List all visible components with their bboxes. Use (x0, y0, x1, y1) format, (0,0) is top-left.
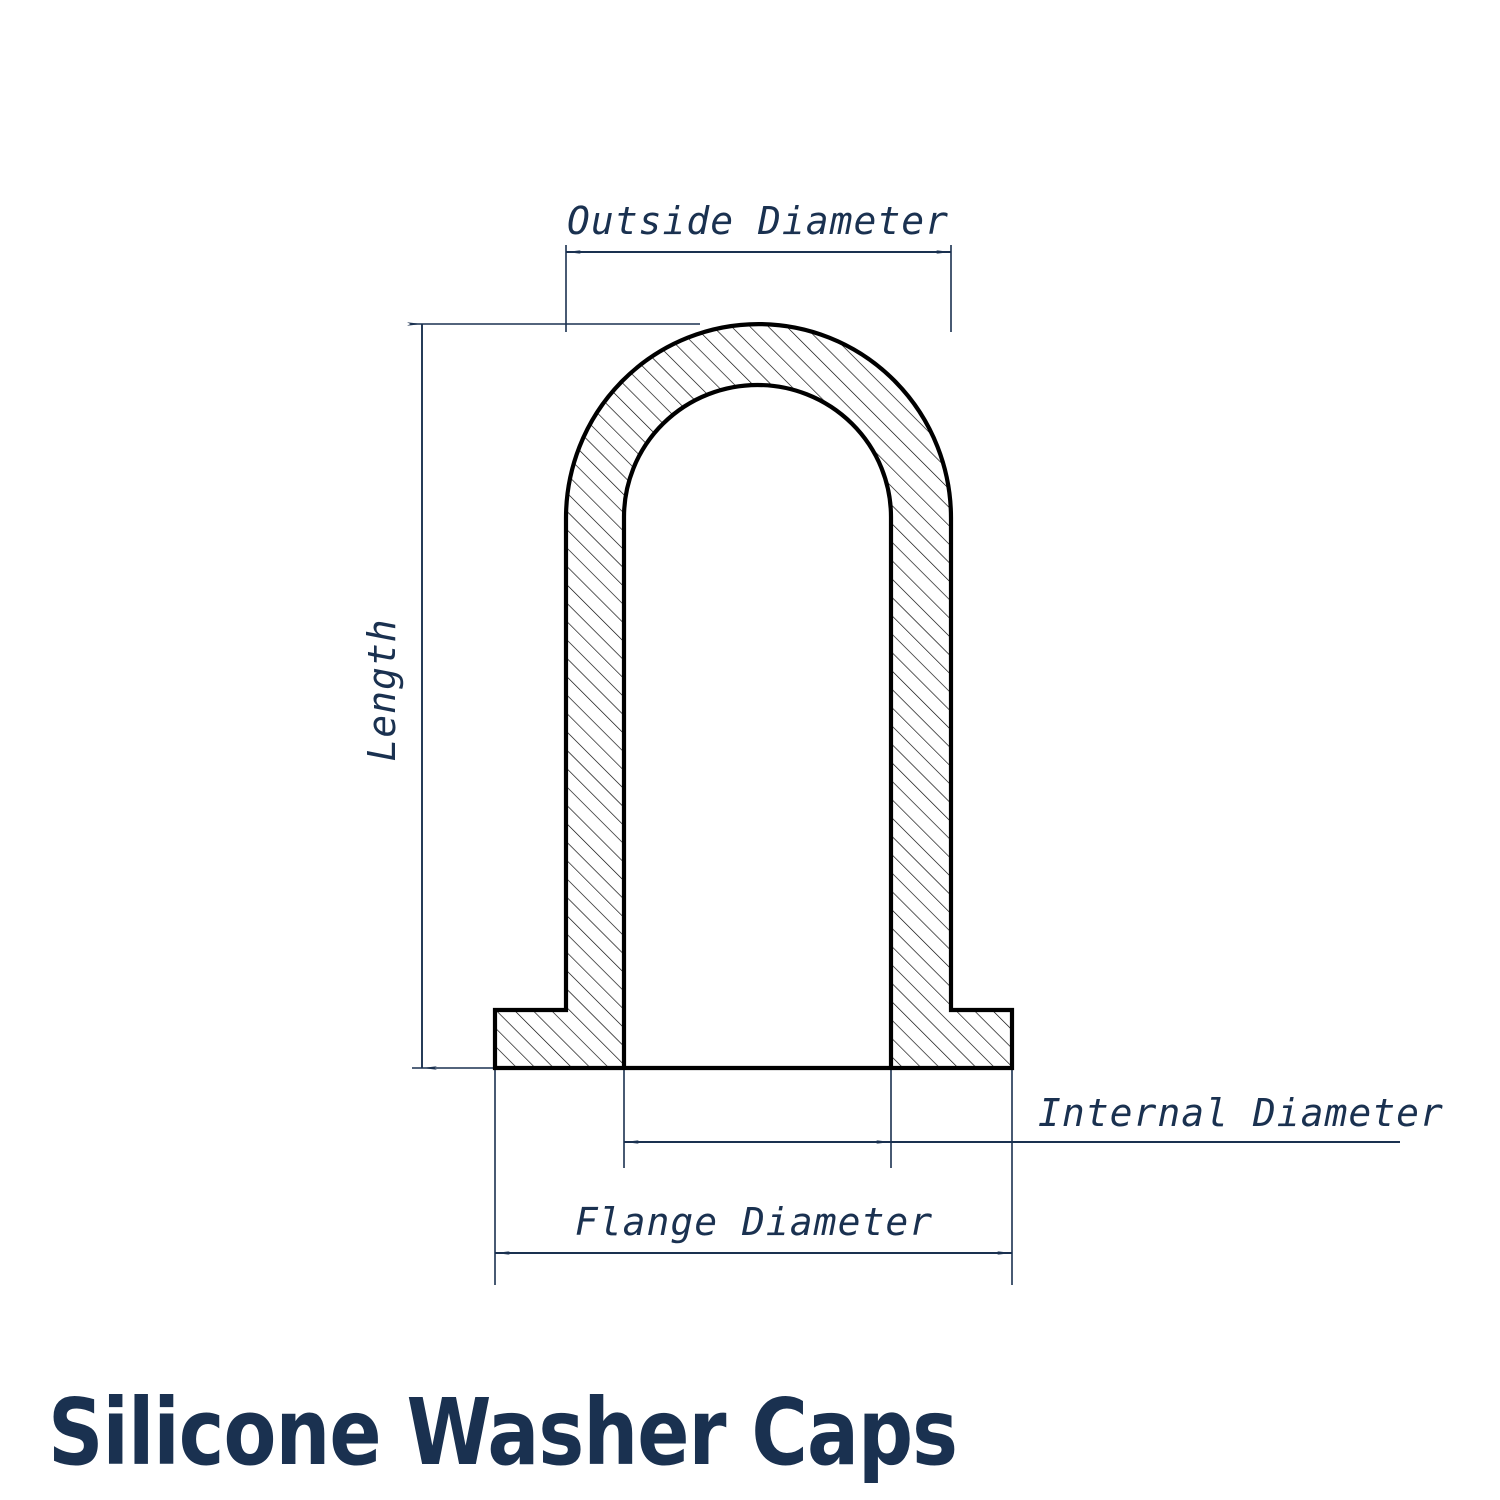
label-length: Length (360, 618, 404, 761)
cap-cross-section (460, 300, 1060, 1100)
page-title: Silicone Washer Caps (48, 1383, 957, 1483)
section-hatching (460, 300, 1060, 1100)
technical-drawing: Outside Diameter Length Internal Diamete… (0, 0, 1500, 1500)
label-outside-diameter: Outside Diameter (567, 199, 949, 243)
label-flange-diameter: Flange Diameter (575, 1200, 933, 1244)
label-internal-diameter: Internal Diameter (1038, 1091, 1444, 1135)
diagram-canvas: Outside Diameter Length Internal Diamete… (0, 0, 1500, 1500)
